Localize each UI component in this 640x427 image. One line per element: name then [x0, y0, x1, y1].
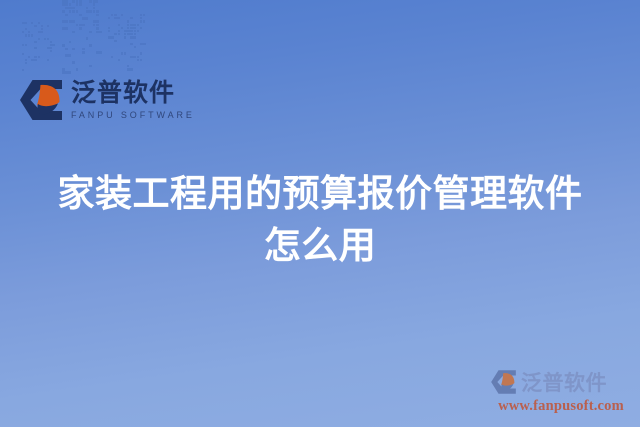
pattern-pixel — [25, 44, 27, 46]
pattern-pixel — [79, 27, 82, 30]
pattern-pixel — [96, 51, 102, 54]
pattern-pixel — [96, 14, 99, 17]
pattern-pixel — [31, 22, 33, 24]
pattern-pixel — [96, 31, 102, 34]
pattern-pixel — [50, 41, 52, 43]
pattern-pixel — [124, 52, 126, 54]
pattern-pixel — [25, 22, 27, 24]
pattern-pixel — [76, 24, 79, 27]
pattern-pixel — [137, 30, 139, 32]
page-title: 家装工程用的预算报价管理软件 怎么用 — [0, 168, 640, 272]
pattern-pixel — [140, 27, 142, 29]
pattern-pixel — [72, 10, 75, 13]
watermark-name-cn: 泛普软件 — [521, 367, 607, 397]
pattern-pixel — [79, 24, 82, 27]
pattern-pixel — [86, 7, 89, 10]
pattern-pixel — [47, 38, 49, 40]
pattern-pixel — [65, 48, 68, 51]
pattern-pixel — [69, 10, 72, 13]
pattern-pixel — [111, 14, 113, 16]
pattern-pixel — [62, 20, 68, 23]
pattern-pixel — [140, 52, 142, 54]
pattern-pixel — [124, 36, 126, 38]
pattern-pixel — [34, 56, 36, 58]
pattern-pixel — [25, 59, 27, 61]
brand-text: 泛普软件 FANPU SOFTWARE — [71, 80, 195, 120]
pattern-pixel — [72, 0, 75, 3]
pattern-pixel — [127, 27, 129, 29]
pattern-pixel — [86, 37, 89, 40]
pattern-pixel — [28, 31, 30, 33]
pattern-pixel — [140, 43, 146, 45]
pattern-pixel — [62, 71, 65, 74]
pattern-pixel — [130, 33, 132, 35]
pattern-pixel — [34, 41, 36, 43]
pattern-pixel — [76, 10, 79, 13]
fanpu-watermark-logo-icon — [490, 369, 517, 395]
pattern-pixel — [38, 56, 40, 58]
pattern-pixel — [65, 27, 68, 30]
pattern-pixel — [140, 17, 142, 19]
pattern-pixel — [96, 24, 99, 27]
pattern-pixel — [121, 14, 123, 16]
pattern-pixel — [28, 34, 30, 36]
pattern-pixel — [130, 43, 132, 45]
pattern-pixel — [127, 68, 133, 70]
pattern-pixel — [137, 59, 139, 61]
title-line-2: 怎么用 — [0, 220, 640, 272]
pattern-pixel — [111, 36, 113, 38]
pattern-pixel — [118, 30, 120, 32]
pattern-pixel — [114, 40, 116, 42]
pattern-pixel — [134, 33, 136, 35]
pattern-pixel — [65, 71, 71, 74]
pattern-pixel — [114, 14, 116, 16]
pattern-pixel — [137, 56, 139, 58]
watermark: 泛普软件 www.fanpusoft.com — [490, 367, 632, 415]
pattern-pixel — [22, 31, 24, 33]
pattern-pixel — [93, 7, 96, 10]
pattern-pixel — [127, 20, 129, 22]
pattern-pixel — [72, 61, 75, 64]
pattern-pixel — [79, 14, 82, 17]
pattern-pixel — [72, 48, 75, 51]
pattern-pixel — [62, 27, 65, 30]
pattern-pixel — [134, 30, 136, 32]
pattern-pixel — [114, 33, 116, 35]
pattern-pixel — [72, 31, 75, 34]
pattern-pixel — [22, 53, 24, 55]
pattern-pixel — [47, 47, 52, 49]
fanpu-logo-icon — [18, 78, 64, 122]
pattern-pixel — [50, 50, 52, 52]
pattern-pixel — [89, 31, 92, 34]
pattern-pixel — [127, 30, 133, 32]
pattern-pixel — [82, 48, 85, 51]
pattern-pixel — [114, 17, 120, 19]
pattern-pixel — [69, 7, 75, 10]
pattern-pixel — [118, 33, 120, 35]
brand-logo: 泛普软件 FANPU SOFTWARE — [18, 78, 195, 122]
pattern-pixel — [130, 56, 136, 58]
pattern-pixel — [127, 65, 129, 67]
pattern-pixel — [34, 47, 36, 49]
pattern-pixel — [25, 34, 27, 36]
pattern-pixel — [82, 24, 85, 27]
pattern-pixel — [79, 3, 82, 6]
pattern-pixel — [130, 36, 136, 38]
pattern-pixel — [22, 69, 24, 71]
pattern-pixel — [76, 0, 79, 3]
pattern-pixel — [62, 68, 65, 71]
pattern-pixel — [62, 3, 65, 6]
pattern-pixel — [111, 56, 113, 58]
pattern-pixel — [93, 24, 96, 27]
pattern-pixel — [140, 20, 142, 22]
pattern-pixel — [89, 65, 92, 68]
pattern-pixel — [89, 0, 92, 3]
pattern-pixel — [108, 17, 110, 19]
title-line-1: 家装工程用的预算报价管理软件 — [0, 168, 640, 220]
pattern-pixel — [69, 20, 75, 23]
pattern-pixel — [79, 0, 82, 3]
pattern-pixel — [140, 14, 142, 16]
pattern-pixel — [69, 54, 72, 57]
pattern-pixel — [121, 27, 123, 29]
pattern-pixel — [96, 20, 99, 23]
pattern-pixel — [41, 25, 43, 27]
pattern-pixel — [130, 27, 136, 29]
pattern-pixel — [25, 28, 27, 30]
pattern-pixel — [41, 28, 43, 30]
pattern-pixel — [82, 51, 85, 54]
pattern-pixel — [140, 59, 142, 61]
pattern-pixel — [96, 10, 99, 13]
pattern-pixel — [143, 20, 145, 22]
pattern-pixel — [38, 22, 40, 24]
pattern-pixel — [118, 24, 120, 26]
pattern-pixel — [143, 14, 145, 16]
pattern-pixel — [38, 38, 40, 40]
brand-name-cn: 泛普软件 — [71, 80, 195, 107]
pattern-pixel — [134, 46, 136, 48]
pattern-pixel — [25, 62, 27, 64]
pattern-pixel — [93, 10, 96, 13]
pattern-pixel — [130, 24, 136, 26]
pattern-pixel — [93, 0, 99, 3]
pattern-pixel — [96, 27, 99, 30]
brand-name-en: FANPU SOFTWARE — [71, 110, 195, 120]
pattern-pixel — [76, 68, 79, 71]
pattern-pixel — [130, 17, 132, 19]
pattern-pixel — [82, 17, 88, 20]
watermark-url: www.fanpusoft.com — [490, 398, 632, 415]
pattern-pixel — [31, 59, 36, 61]
pattern-pixel — [65, 0, 68, 3]
pattern-pixel — [47, 25, 49, 27]
pattern-pixel — [50, 44, 55, 46]
pattern-pixel — [44, 38, 46, 40]
pattern-pixel — [108, 30, 110, 32]
pattern-pixel — [62, 44, 65, 47]
pattern-pixel — [118, 59, 120, 61]
pattern-pixel — [108, 27, 110, 29]
pattern-pixel — [31, 34, 33, 36]
pattern-pixel — [65, 14, 68, 17]
pattern-pixel — [62, 10, 65, 13]
pattern-pixel — [121, 52, 123, 54]
pattern-pixel — [65, 3, 68, 6]
pattern-pixel — [137, 24, 139, 26]
watermark-logo-row: 泛普软件 — [490, 367, 632, 397]
pattern-pixel — [28, 56, 30, 58]
pattern-pixel — [34, 25, 36, 27]
pattern-pixel — [89, 44, 92, 47]
promo-banner: 泛普软件 FANPU SOFTWARE 家装工程用的预算报价管理软件 怎么用 泛… — [0, 0, 640, 427]
pattern-pixel — [127, 24, 129, 26]
pattern-pixel — [86, 10, 92, 13]
pattern-pixel — [38, 31, 43, 33]
pattern-pixel — [76, 3, 79, 6]
pattern-pixel — [22, 44, 24, 46]
pattern-pixel — [69, 3, 72, 6]
pattern-pixel — [93, 3, 96, 6]
pattern-pixel — [124, 33, 126, 35]
pattern-pixel — [47, 59, 49, 61]
qr-pixel-pattern — [22, 0, 156, 76]
pattern-pixel — [69, 41, 72, 44]
